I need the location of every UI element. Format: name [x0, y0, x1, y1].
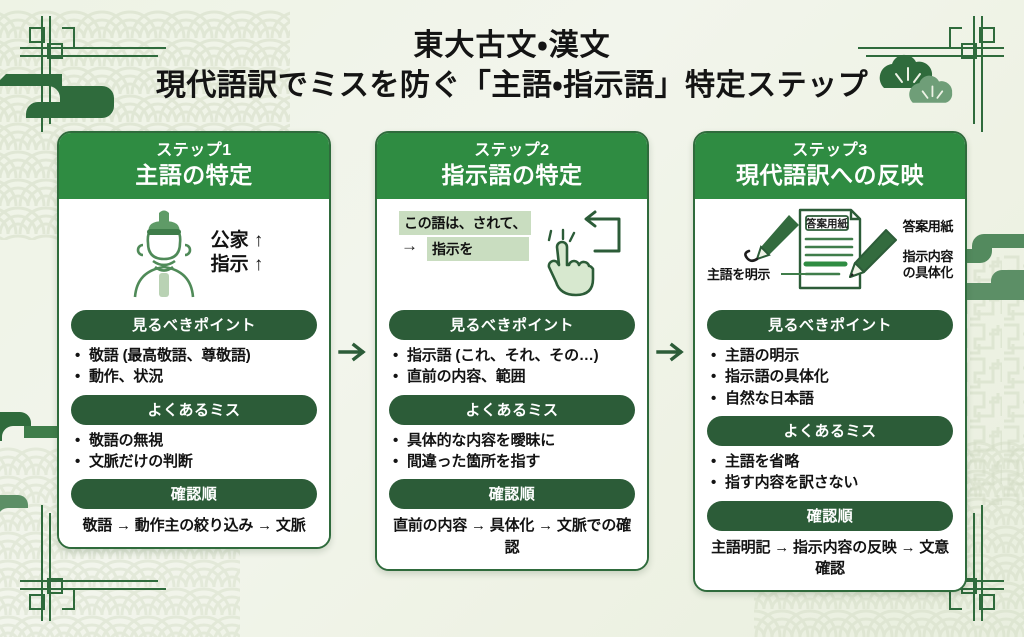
step-card-3-body: 答案用紙	[695, 199, 965, 590]
step-card-3-points-label: 見るべきポイント	[707, 310, 953, 340]
page-title: 東大古文・漢文 現代語訳でミスを防ぐ「主語・指示語」特定ステップ	[0, 26, 1024, 105]
noble-label-1: 公家 ↑	[211, 229, 264, 253]
step-card-1[interactable]: ステップ1 主語の特定	[57, 131, 331, 549]
step-card-3-order-text: 主語明記 → 指示内容の反映 → 文意確認	[705, 536, 955, 581]
highlight-band-2: 指示を	[427, 237, 529, 261]
step-card-2-body: この語は、されて、 → 指示を	[377, 199, 647, 569]
step-card-3-illustration: 答案用紙	[705, 205, 955, 301]
step-card-2-title: 指示語の特定	[383, 162, 641, 190]
step-card-1-step-label: ステップ1	[65, 140, 323, 162]
step-card-1-illustration: 公家 ↑ 指示 ↑	[69, 205, 319, 301]
step-card-1-title: 主語の特定	[65, 162, 323, 190]
highlight-band-1: この語は、されて、	[399, 211, 531, 235]
step-card-2-header: ステップ2 指示語の特定	[377, 133, 647, 199]
list-item: 敬語の無視	[75, 430, 319, 451]
title-line-2: 現代語訳でミスを防ぐ「主語・指示語」特定ステップ	[0, 66, 1024, 106]
step-connector-arrow-1	[331, 341, 375, 363]
list-item: 指示語の具体化	[711, 366, 955, 387]
step-card-1-illustration-labels: 公家 ↑ 指示 ↑	[211, 229, 264, 278]
leader-line	[781, 271, 805, 277]
step-card-3-order-label: 確認順	[707, 501, 953, 531]
step-card-1-points-label: 見るべきポイント	[71, 310, 317, 340]
step-card-1-mistakes-label: よくあるミス	[71, 395, 317, 425]
step-card-3-step-label: ステップ3	[701, 140, 959, 162]
label-subject-explicit: 主語を明示	[707, 267, 770, 283]
label-concretize-line-1: 指示内容	[903, 249, 953, 265]
court-noble-icon	[125, 207, 203, 299]
step-card-2-points-list: 指示語 (これ、それ、その…) 直前の内容、範囲	[387, 345, 637, 388]
step-card-1-header: ステップ1 主語の特定	[59, 133, 329, 199]
step-card-1-body: 公家 ↑ 指示 ↑ 見るべきポイント 敬語 (最高敬語、尊敬語) 動作、状況 よ…	[59, 199, 329, 547]
list-item: 主語を省略	[711, 451, 955, 472]
step-card-2-order-text: 直前の内容 → 具体化 → 文脈での確認	[387, 514, 637, 559]
step-card-3-mistakes-label: よくあるミス	[707, 416, 953, 446]
step-card-3-header: ステップ3 現代語訳への反映	[695, 133, 965, 199]
list-item: 敬語 (最高敬語、尊敬語)	[75, 345, 319, 366]
step-card-2-mistakes-list: 具体的な内容を曖昧に 間違った箇所を指す	[387, 430, 637, 473]
list-item: 自然な日本語	[711, 388, 955, 409]
step-card-3[interactable]: ステップ3 現代語訳への反映 答案用紙	[693, 131, 967, 592]
step-card-3-points-list: 主語の明示 指示語の具体化 自然な日本語	[705, 345, 955, 409]
step-card-3-title: 現代語訳への反映	[701, 162, 959, 190]
step-connector-arrow-2	[649, 341, 693, 363]
step-card-2-illustration: この語は、されて、 → 指示を	[387, 205, 637, 301]
calligraphy-brush-icon	[741, 211, 803, 273]
list-item: 直前の内容、範囲	[393, 366, 637, 387]
label-concretize-line-2: の具体化	[903, 265, 953, 281]
step-card-2-step-label: ステップ2	[383, 140, 641, 162]
list-item: 間違った箇所を指す	[393, 451, 637, 472]
label-concretize-reference: 指示内容 の具体化	[903, 249, 953, 282]
step-card-1-points-list: 敬語 (最高敬語、尊敬語) 動作、状況	[69, 345, 319, 388]
step-card-2-order-label: 確認順	[389, 479, 635, 509]
list-item: 指す内容を訳さない	[711, 472, 955, 493]
list-item: 指示語 (これ、それ、その…)	[393, 345, 637, 366]
inline-arrow: →	[401, 236, 418, 256]
arrow-right-icon	[338, 341, 368, 363]
step-card-1-order-text: 敬語 → 動作主の絞り込み → 文脈	[69, 514, 319, 537]
step-card-1-mistakes-list: 敬語の無視 文脈だけの判断	[69, 430, 319, 473]
step-card-2[interactable]: ステップ2 指示語の特定 この語は、されて、 → 指示を	[375, 131, 649, 571]
noble-label-2: 指示 ↑	[211, 253, 264, 277]
list-item: 文脈だけの判断	[75, 451, 319, 472]
list-item: 主語の明示	[711, 345, 955, 366]
step-card-2-points-label: 見るべきポイント	[389, 310, 635, 340]
pointing-hand-icon	[537, 227, 607, 299]
steps-container: ステップ1 主語の特定	[0, 131, 1024, 591]
list-item: 具体的な内容を曖昧に	[393, 430, 637, 451]
title-line-1: 東大古文・漢文	[0, 26, 1024, 66]
pen-icon	[842, 227, 900, 285]
step-card-1-order-label: 確認順	[71, 479, 317, 509]
step-card-2-mistakes-label: よくあるミス	[389, 395, 635, 425]
arrow-right-icon	[656, 341, 686, 363]
step-card-3-mistakes-list: 主語を省略 指す内容を訳さない	[705, 451, 955, 494]
label-answer-sheet: 答案用紙	[903, 219, 953, 235]
list-item: 動作、状況	[75, 366, 319, 387]
